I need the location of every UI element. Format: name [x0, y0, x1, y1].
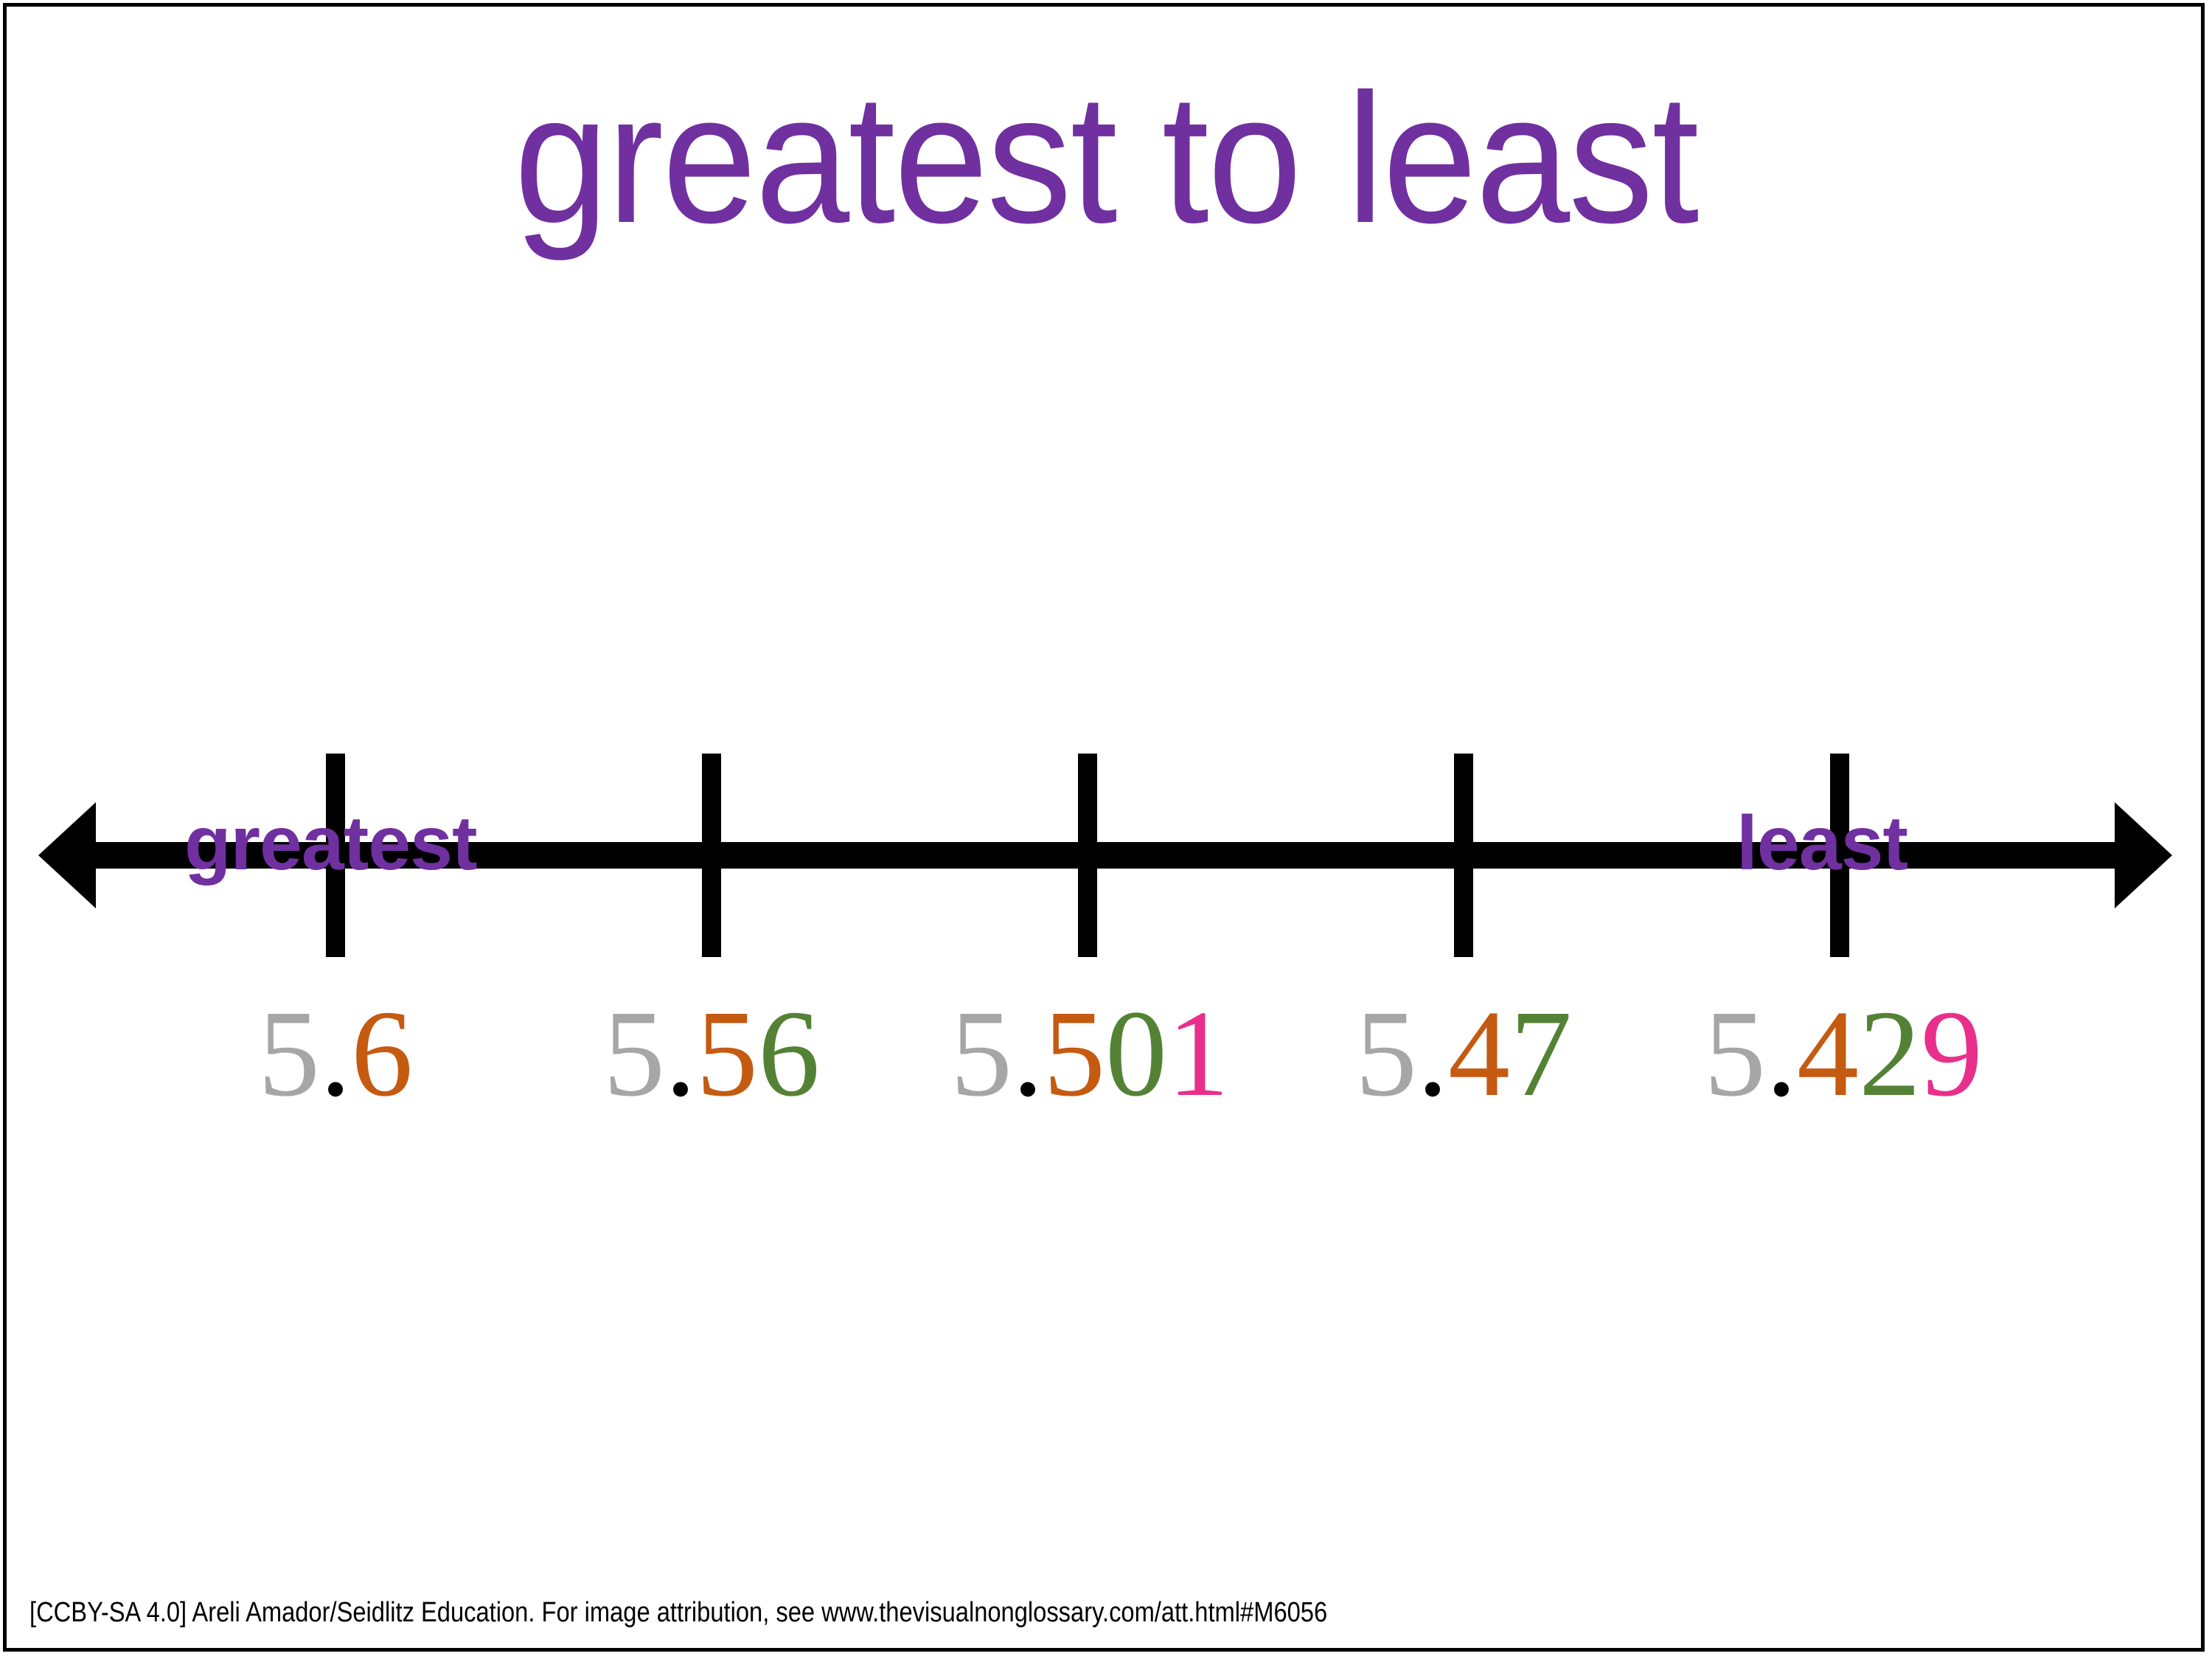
page-title: greatest to least [88, 66, 2124, 251]
attribution-footer: [CCBY-SA 4.0] Areli Amador/Seidlitz Educ… [29, 1599, 1327, 1627]
digit-ones-1: 5 [258, 985, 320, 1122]
digit-hundredths-4: 7 [1510, 985, 1572, 1122]
digit-hundredths-2: 6 [758, 985, 820, 1122]
value-label-2: 5.56 [603, 992, 820, 1116]
arrow-right-icon [2115, 802, 2172, 908]
number-line: greatest least [0, 737, 2212, 973]
value-label-3: 5.501 [950, 992, 1229, 1116]
label-least: least [1736, 805, 1907, 882]
tick-mark-4 [1454, 754, 1473, 957]
decimal-point-2: . [665, 985, 696, 1122]
digit-ones-4: 5 [1355, 985, 1417, 1122]
tick-mark-3 [1078, 754, 1097, 957]
digit-tenths-2: 5 [696, 985, 758, 1122]
digit-ones-2: 5 [603, 985, 665, 1122]
tick-mark-2 [702, 754, 721, 957]
value-label-5: 5.429 [1704, 992, 1983, 1116]
label-greatest: greatest [184, 805, 477, 882]
arrow-left-icon [38, 802, 96, 908]
decimal-point-3: . [1012, 985, 1043, 1122]
digit-thousandths-3: 1 [1167, 985, 1229, 1122]
value-label-4: 5.47 [1355, 992, 1572, 1116]
decimal-point-4: . [1417, 985, 1448, 1122]
digit-tenths-3: 5 [1043, 985, 1105, 1122]
value-label-1: 5.6 [258, 992, 413, 1116]
digit-thousandths-5: 9 [1921, 985, 1983, 1122]
digit-tenths-1: 6 [351, 985, 413, 1122]
decimal-point-5: . [1766, 985, 1797, 1122]
digit-tenths-5: 4 [1797, 985, 1859, 1122]
digit-ones-5: 5 [1704, 985, 1766, 1122]
digit-ones-3: 5 [950, 985, 1012, 1122]
digit-hundredths-5: 2 [1859, 985, 1921, 1122]
decimal-point-1: . [320, 985, 351, 1122]
digit-hundredths-3: 0 [1105, 985, 1167, 1122]
digit-tenths-4: 4 [1448, 985, 1510, 1122]
decimal-value-labels: 5.6 5.56 5.501 5.47 5.429 [0, 992, 2212, 1169]
